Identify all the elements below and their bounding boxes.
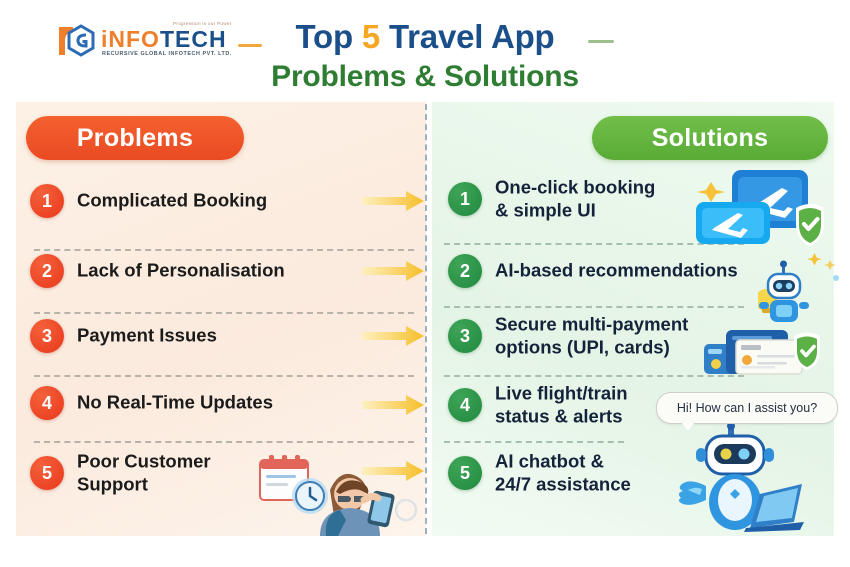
- problem-separator-4: [34, 441, 414, 443]
- arrow-icon-4: [362, 394, 424, 416]
- chat-bubble: Hi! How can I assist you?: [656, 392, 838, 424]
- boarding-pass-plane-shield-icon: [688, 168, 838, 258]
- solution-separator-2: [444, 306, 744, 308]
- traveler-with-phone-clock-icon: [258, 452, 418, 536]
- infographic-canvas: Progression is our Power iNFOTECH RECURS…: [0, 0, 850, 567]
- title-number-five: 5: [362, 18, 380, 55]
- arrow-icon-1: [362, 190, 424, 212]
- problem-separator-2: [34, 312, 414, 314]
- solutions-header-badge: Solutions: [592, 116, 828, 160]
- chat-bubble-text: Hi! How can I assist you?: [677, 401, 817, 415]
- page-title-line1: Top 5 Travel App: [0, 18, 850, 56]
- page-title-line2: Problems & Solutions: [0, 60, 850, 94]
- problem-separator-3: [34, 375, 414, 377]
- title-post: Travel App: [380, 18, 554, 55]
- header: Progression is our Power iNFOTECH RECURS…: [0, 0, 850, 100]
- title-pre: Top: [295, 18, 361, 55]
- arrow-icon-2: [362, 260, 424, 282]
- waving-robot-laptop-icon: [676, 424, 806, 536]
- arrow-icon-3: [362, 325, 424, 347]
- problem-separator-1: [34, 249, 414, 251]
- problems-header-badge: Problems: [26, 116, 244, 160]
- payment-cards-shield-icon: [702, 322, 838, 384]
- solution-separator-4: [444, 441, 624, 443]
- solution-separator-3: [444, 375, 744, 377]
- column-divider: [425, 104, 427, 534]
- robot-lightbulb-stars-icon: [758, 252, 842, 328]
